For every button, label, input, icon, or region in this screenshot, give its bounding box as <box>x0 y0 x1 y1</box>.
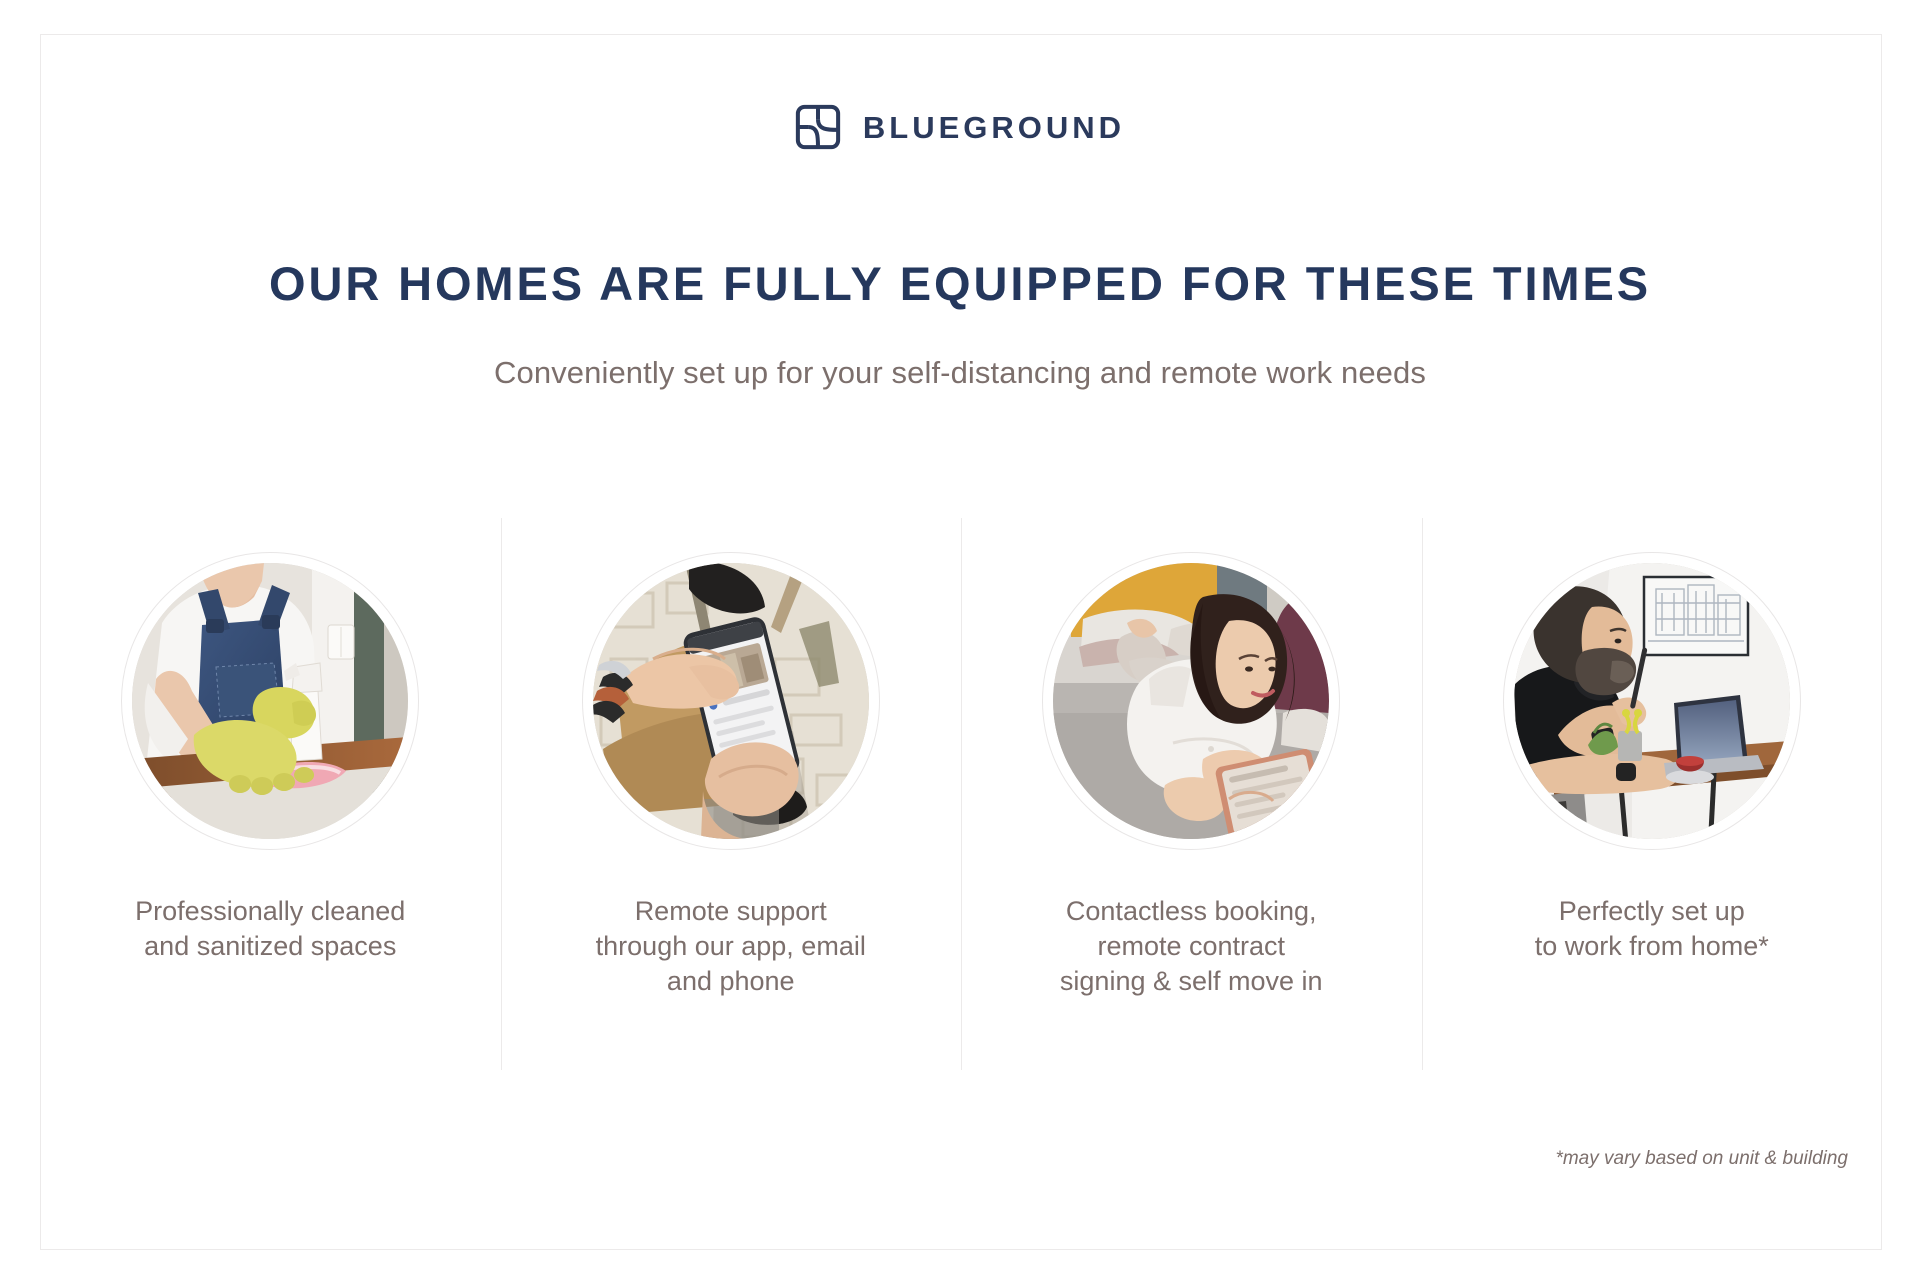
feature-column-cleaning: Professionally cleaned and sanitized spa… <box>40 518 501 1070</box>
photo-work-from-home-desk <box>1514 563 1790 839</box>
feature-column-remote-support: Remote support through our app, email an… <box>501 518 962 1070</box>
footnote-disclaimer: *may vary based on unit & building <box>1555 1148 1848 1170</box>
brand-lockup: BLUEGROUND <box>0 104 1920 150</box>
page-subtitle: Conveniently set up for your self-distan… <box>0 355 1920 391</box>
feature-caption: Perfectly set up to work from home* <box>1535 894 1769 964</box>
poster-canvas: BLUEGROUND OUR HOMES ARE FULLY EQUIPPED … <box>0 0 1920 1280</box>
feature-columns: Professionally cleaned and sanitized spa… <box>40 518 1882 1070</box>
feature-column-work-from-home: Perfectly set up to work from home* <box>1422 518 1883 1070</box>
photo-remote-support-phone <box>593 563 869 839</box>
feature-caption: Professionally cleaned and sanitized spa… <box>135 894 405 964</box>
blueground-square-mark-icon <box>795 104 841 150</box>
photo-ring <box>1042 552 1340 850</box>
feature-caption: Contactless booking, remote contract sig… <box>1060 894 1323 999</box>
photo-ring <box>121 552 419 850</box>
photo-cleaning-sanitizing <box>132 563 408 839</box>
photo-ring <box>1503 552 1801 850</box>
brand-name: BLUEGROUND <box>863 112 1125 143</box>
page-title: OUR HOMES ARE FULLY EQUIPPED FOR THESE T… <box>0 256 1920 311</box>
photo-ring <box>582 552 880 850</box>
feature-column-contactless-booking: Contactless booking, remote contract sig… <box>961 518 1422 1070</box>
photo-contactless-booking-tablet <box>1053 563 1329 839</box>
feature-caption: Remote support through our app, email an… <box>596 894 866 999</box>
